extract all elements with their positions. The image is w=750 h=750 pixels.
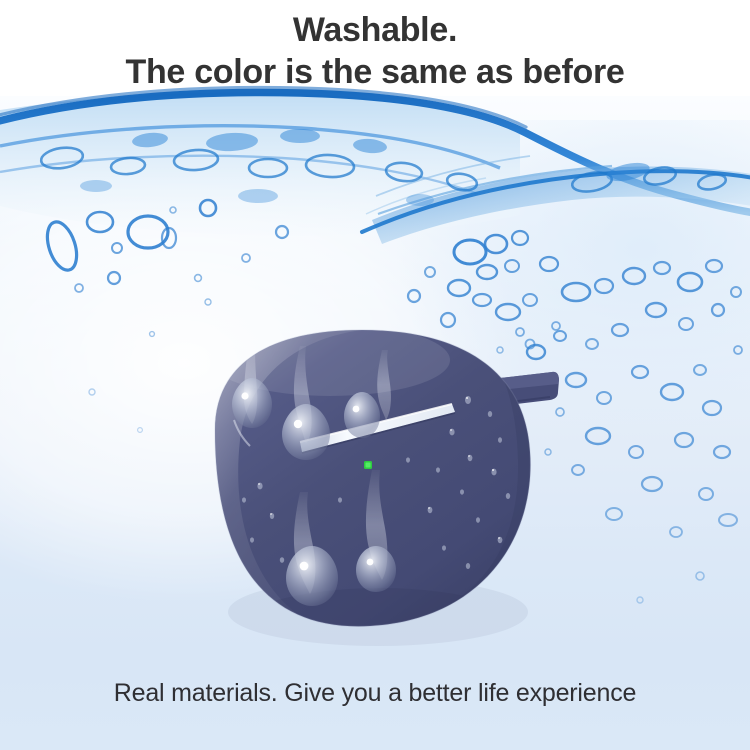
- headline-line-1: Washable.: [0, 10, 750, 50]
- footer-caption: Real materials. Give you a better life e…: [0, 679, 750, 708]
- promo-image: Washable. The color is the same as befor…: [0, 0, 750, 750]
- headline-line-2: The color is the same as before: [0, 52, 750, 92]
- headline-block: Washable. The color is the same as befor…: [0, 0, 750, 92]
- foreground-bubbles: [0, 0, 750, 750]
